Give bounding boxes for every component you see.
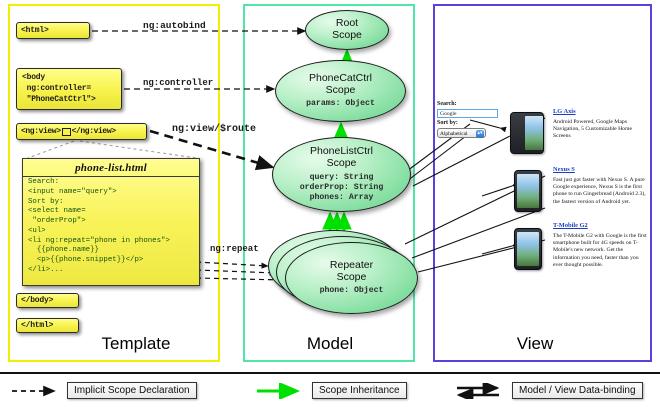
tag-body-open: <body ng:controller= "PhoneCatCtrl"> <box>16 68 122 110</box>
phone-screen-icon <box>517 174 539 208</box>
scope-phonecatctrl-name: PhoneCatCtrl Scope <box>309 73 372 97</box>
label-ng-repeat: ng:repeat <box>210 244 259 254</box>
scope-repeater-line2: Scope <box>337 271 367 283</box>
diagram-canvas: <html> <body ng:controller= "PhoneCatCtr… <box>0 0 660 405</box>
double-arrow-icon <box>455 383 507 399</box>
legend: Implicit Scope Declaration Scope Inherit… <box>0 372 660 407</box>
legend-label: Implicit Scope Declaration <box>67 382 197 399</box>
phone-snippet: Android Powered, Google Maps Navigation,… <box>553 119 649 141</box>
phone-snippet: The T-Mobile G2 with Google is the first… <box>553 233 649 269</box>
partial-card-phone-list: phone-list.html Search: <input name="que… <box>22 158 200 286</box>
legend-item-implicit-scope-declaration: Implicit Scope Declaration <box>10 382 197 399</box>
scope-root-line1: Root <box>336 17 358 29</box>
chevron-updown-icon: ▴▾ <box>476 130 484 138</box>
dashed-arrow-icon <box>10 383 62 399</box>
legend-label: Model / View Data-binding <box>512 382 643 399</box>
phone-thumbnail-lg-axis <box>510 112 544 154</box>
view-search-form: Search: Google Sort by: Alphabetical ▴▾ <box>437 101 503 138</box>
phone-screen-icon <box>517 232 539 266</box>
scope-phonelistctrl-line2: Scope <box>327 157 357 169</box>
scope-root-name: Root Scope <box>332 18 362 42</box>
partial-filename: phone-list.html <box>23 159 199 176</box>
list-item[interactable]: LG Axis Android Powered, Google Maps Nav… <box>553 108 649 141</box>
list-item[interactable]: T-Mobile G2 The T-Mobile G2 with Google … <box>553 222 649 269</box>
scope-phonelistctrl-props: query: String orderProp: String phones: … <box>300 173 384 203</box>
phone-name-link[interactable]: T-Mobile G2 <box>553 222 649 230</box>
green-arrow-icon <box>255 383 307 399</box>
scope-phonecatctrl-line2: Scope <box>326 84 356 96</box>
phone-thumbnail-nexus-s <box>514 170 542 212</box>
tag-html-close: </html> <box>16 318 79 333</box>
panel-title-template: Template <box>88 334 184 354</box>
legend-item-model-view-data-binding: Model / View Data-binding <box>455 382 643 399</box>
phone-name-link[interactable]: Nexus S <box>553 166 649 174</box>
phone-name-link[interactable]: LG Axis <box>553 108 649 116</box>
tag-html-open: <html> <box>16 22 90 39</box>
ngview-placeholder-icon <box>62 128 71 136</box>
partial-code: Search: <input name="query"> Sort by: <s… <box>23 176 199 281</box>
legend-item-scope-inheritance: Scope Inheritance <box>255 382 407 399</box>
scope-repeater-props: phone: Object <box>320 286 384 296</box>
ngview-close-label: </ng:view> <box>72 127 116 136</box>
search-label: Search: <box>437 101 503 109</box>
label-ng-view-route: ng:view/$route <box>172 124 256 135</box>
scope-repeater-line1: Repeater <box>330 259 373 271</box>
scope-repeater: Repeater Scope phone: Object <box>285 242 418 314</box>
list-item[interactable]: Nexus S Fast just got faster with Nexus … <box>553 166 649 206</box>
ngview-open-label: <ng:view> <box>21 127 61 136</box>
sort-select[interactable]: Alphabetical ▴▾ <box>437 128 486 138</box>
sort-select-value: Alphabetical <box>440 131 468 137</box>
scope-phonelistctrl-name: PhoneListCtrl Scope <box>310 146 373 170</box>
phone-screen-icon <box>525 116 543 150</box>
scope-repeater-name: Repeater Scope <box>330 260 373 284</box>
tag-ngview: <ng:view> </ng:view> <box>16 123 147 140</box>
scope-phonelistctrl-line1: PhoneListCtrl <box>310 145 373 157</box>
panel-title-model: Model <box>275 334 385 354</box>
scope-phonecatctrl-line1: PhoneCatCtrl <box>309 72 372 84</box>
label-ng-controller: ng:controller <box>143 78 213 88</box>
phone-snippet: Fast just got faster with Nexus S. A pur… <box>553 177 649 206</box>
scope-phonelistctrl: PhoneListCtrl Scope query: String orderP… <box>272 137 411 212</box>
phone-thumbnail-t-mobile-g2 <box>514 228 542 270</box>
sort-label: Sort by: <box>437 120 503 128</box>
label-ng-autobind: ng:autobind <box>143 20 206 31</box>
scope-phonecatctrl: PhoneCatCtrl Scope params: Object <box>275 60 406 122</box>
search-input[interactable]: Google <box>437 109 498 118</box>
scope-root-line2: Scope <box>332 29 362 41</box>
scope-root: Root Scope <box>305 10 389 50</box>
tag-body-close: </body> <box>16 293 79 308</box>
panel-title-view: View <box>480 334 590 354</box>
scope-phonecatctrl-props: params: Object <box>306 99 375 109</box>
legend-label: Scope Inheritance <box>312 382 407 399</box>
